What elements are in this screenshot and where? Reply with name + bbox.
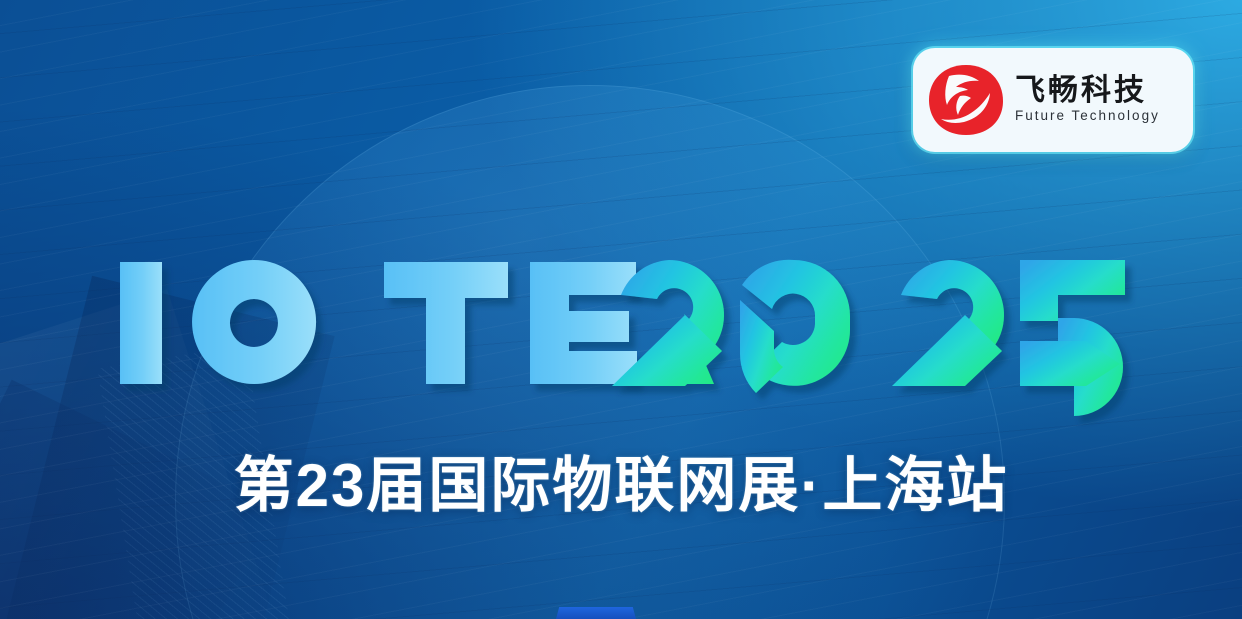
company-name-en: Future Technology — [1015, 109, 1160, 124]
headline-logotype — [118, 252, 1084, 394]
bottom-accent-tab — [556, 607, 636, 619]
company-emblem-icon — [927, 63, 1005, 137]
page-title: 第23届国际物联网展·上海站 — [0, 452, 1242, 519]
iote-2025-wordmark-icon — [118, 252, 1084, 394]
iote-2025-banner: 第23届国际物联网展·上海站 飞畅科技 Future Technology — [0, 0, 1242, 619]
exhibitor-logo-badge[interactable]: 飞畅科技 Future Technology — [913, 48, 1193, 152]
company-name-cn: 飞畅科技 — [1015, 76, 1160, 107]
year-digits — [612, 260, 1125, 416]
iote-letters — [120, 260, 637, 384]
company-name-block: 飞畅科技 Future Technology — [1015, 76, 1160, 123]
